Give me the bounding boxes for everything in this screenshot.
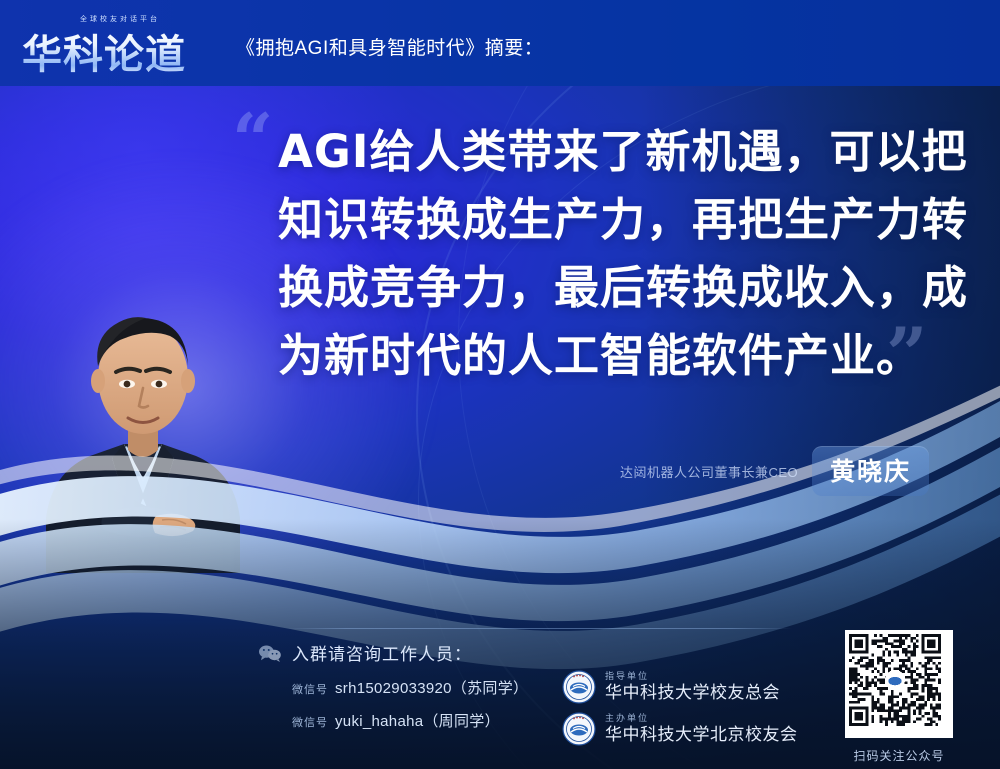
university-seal-icon <box>562 670 596 704</box>
contact-block: 入群请咨询工作人员： 微信号 srh15029033920（苏同学） 微信号 y… <box>258 640 588 731</box>
speaker-attribution: 达闼机器人公司董事长兼CEO 黄晓庆 <box>620 446 929 496</box>
header-bar: 全球校友对话平台 华科论道 《拥抱AGI和具身智能时代》摘要： <box>0 0 1000 86</box>
university-seal-icon <box>562 712 596 746</box>
wechat-icon <box>258 644 282 662</box>
organization-kind: 指导单位 <box>605 672 780 681</box>
qr-code-image[interactable] <box>845 630 953 738</box>
contact-title: 入群请咨询工作人员： <box>292 640 472 665</box>
wechat-label: 微信号 <box>292 681 328 697</box>
wechat-id: yuki_hahaha（周同学） <box>335 710 500 731</box>
quote-text: AGI给人类带来了新机遇，可以把 知识转换成生产力，再把生产力转 换成竞争力，最… <box>278 118 938 390</box>
qr-block: 扫码关注公众号 <box>838 630 960 764</box>
footer-divider <box>286 628 792 629</box>
speaker-role: 达闼机器人公司董事长兼CEO <box>620 462 798 481</box>
quote-open-mark: “ <box>232 104 273 176</box>
quote-line: 知识转换成生产力，再把生产力转 <box>278 186 938 254</box>
organization-kind: 主办单位 <box>605 714 798 723</box>
brand-logo: 全球校友对话平台 华科论道 <box>22 10 222 76</box>
contact-row: 微信号 srh15029033920（苏同学） <box>292 677 588 698</box>
wechat-label: 微信号 <box>292 714 328 730</box>
organization-name: 华中科技大学北京校友会 <box>605 726 798 744</box>
page-title: 《拥抱AGI和具身智能时代》摘要： <box>236 33 543 60</box>
contact-heading: 入群请咨询工作人员： <box>258 640 588 665</box>
qr-caption: 扫码关注公众号 <box>838 747 960 764</box>
contact-row: 微信号 yuki_hahaha（周同学） <box>292 710 588 731</box>
organization-text: 指导单位 华中科技大学校友总会 <box>605 672 780 702</box>
organization-list: 指导单位 华中科技大学校友总会 主办 <box>562 670 798 754</box>
organization-name: 华中科技大学校友总会 <box>605 684 780 702</box>
poster-canvas: 全球校友对话平台 华科论道 《拥抱AGI和具身智能时代》摘要： “ ” AGI给… <box>0 0 1000 769</box>
speaker-name-badge: 黄晓庆 <box>812 446 929 496</box>
quote-line: 换成竞争力，最后转换成收入，成 <box>278 254 938 322</box>
quote-line: AGI给人类带来了新机遇，可以把 <box>278 118 938 186</box>
organization-text: 主办单位 华中科技大学北京校友会 <box>605 714 798 744</box>
quote-line: 为新时代的人工智能软件产业。 <box>278 322 938 390</box>
organization-item: 主办单位 华中科技大学北京校友会 <box>562 712 798 746</box>
organization-item: 指导单位 华中科技大学校友总会 <box>562 670 798 704</box>
brand-name: 华科论道 <box>22 22 186 80</box>
wechat-id: srh15029033920（苏同学） <box>335 677 528 698</box>
